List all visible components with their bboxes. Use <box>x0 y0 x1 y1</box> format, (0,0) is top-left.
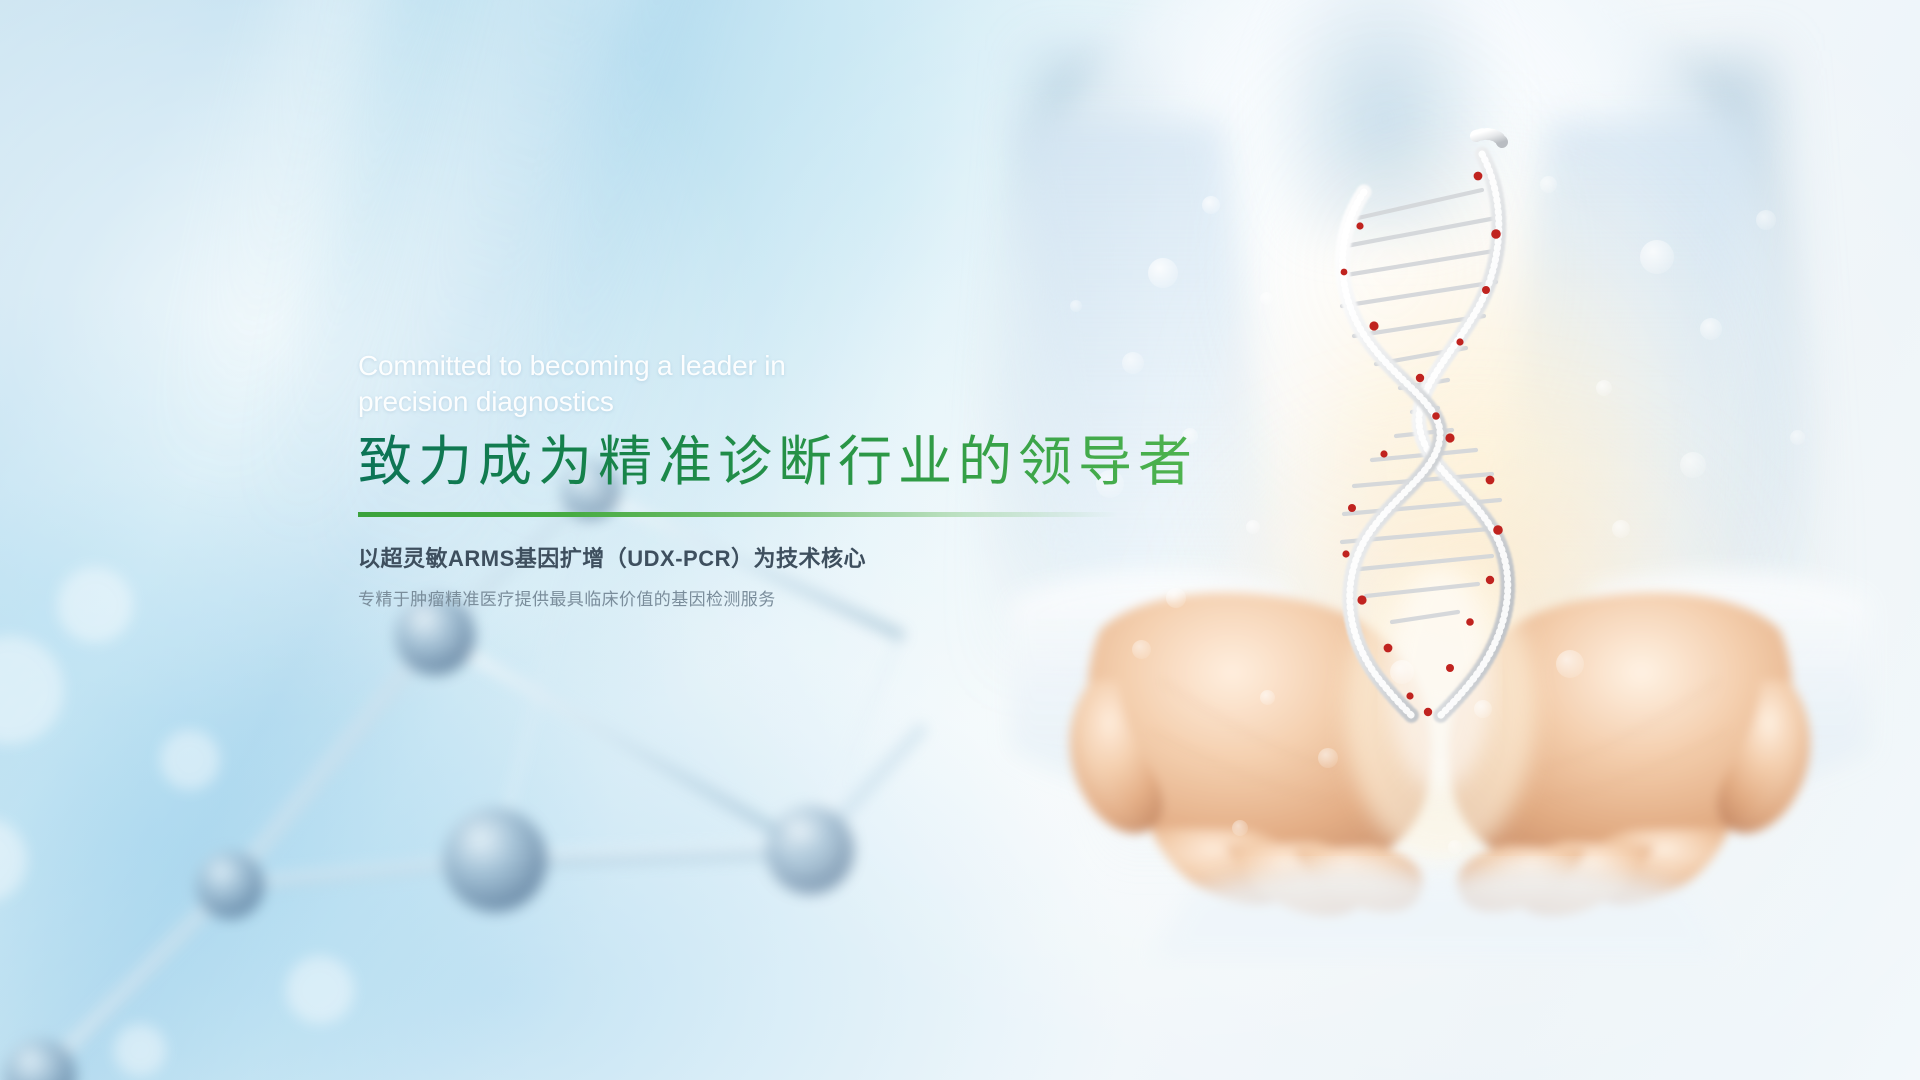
chinese-headline: 致力成为精准诊断行业的领导者 <box>358 429 1298 496</box>
description-service: 专精于肿瘤精准医疗提供最具临床价值的基因检测服务 <box>358 585 1298 610</box>
coat-neck <box>1260 0 1510 240</box>
hero-banner: Committed to becoming a leader in precis… <box>0 0 1920 1080</box>
dna-helix-icon <box>1300 130 1590 720</box>
coat-shadow <box>1632 55 1827 705</box>
english-headline: Committed to becoming a leader in precis… <box>358 348 1298 421</box>
cupped-hands-icon <box>1040 560 1840 960</box>
coat-lapel <box>1453 120 1756 880</box>
green-divider-rule <box>358 512 1118 517</box>
subtitle-technology-core: 以超灵敏ARMS基因扩增（UDX-PCR）为技术核心 <box>358 541 1298 573</box>
hero-copy-block: Committed to becoming a leader in precis… <box>358 348 1298 610</box>
